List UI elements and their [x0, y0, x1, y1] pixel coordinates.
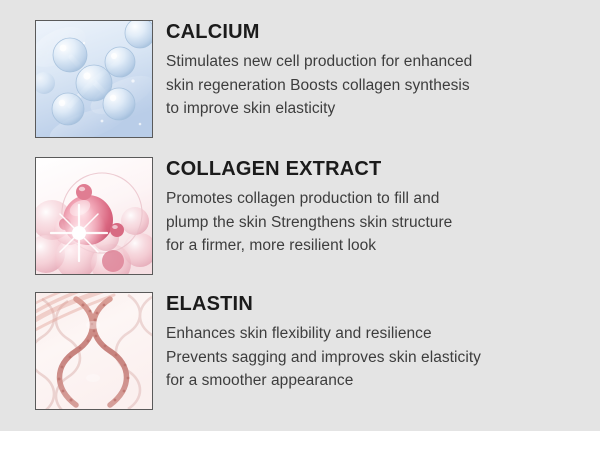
description-line: to improve skin elasticity — [166, 97, 586, 121]
description-line: skin regeneration Boosts collagen synthe… — [166, 74, 586, 98]
ingredient-text-column: ELASTIN Enhances skin flexibility and re… — [166, 292, 586, 393]
description-line: for a firmer, more resilient look — [166, 234, 586, 258]
description-line: Prevents sagging and improves skin elast… — [166, 346, 586, 370]
description-line: Promotes collagen production to fill and — [166, 187, 586, 211]
ingredient-panel: CALCIUM Stimulates new cell production f… — [0, 0, 600, 431]
calcium-molecule-thumbnail — [35, 20, 153, 138]
description-line: plump the skin Strengthens skin structur… — [166, 211, 586, 235]
calcium-molecule-illustration — [36, 21, 152, 137]
ingredient-text-column: COLLAGEN EXTRACT Promotes collagen produ… — [166, 157, 586, 258]
description-line: Enhances skin flexibility and resilience — [166, 322, 586, 346]
ingredient-description: Enhances skin flexibility and resilience… — [166, 322, 586, 393]
ingredient-description: Promotes collagen production to fill and… — [166, 187, 586, 258]
collagen-bubbles-thumbnail — [35, 157, 153, 275]
description-line: Stimulates new cell production for enhan… — [166, 50, 586, 74]
elastin-helix-illustration — [36, 293, 152, 409]
ingredient-title: ELASTIN — [166, 292, 586, 316]
ingredient-text-column: CALCIUM Stimulates new cell production f… — [166, 20, 586, 121]
collagen-bubbles-illustration — [36, 158, 152, 274]
elastin-helix-thumbnail — [35, 292, 153, 410]
ingredient-description: Stimulates new cell production for enhan… — [166, 50, 586, 121]
ingredient-title: CALCIUM — [166, 20, 586, 44]
description-line: for a smoother appearance — [166, 369, 586, 393]
ingredient-title: COLLAGEN EXTRACT — [166, 157, 586, 181]
